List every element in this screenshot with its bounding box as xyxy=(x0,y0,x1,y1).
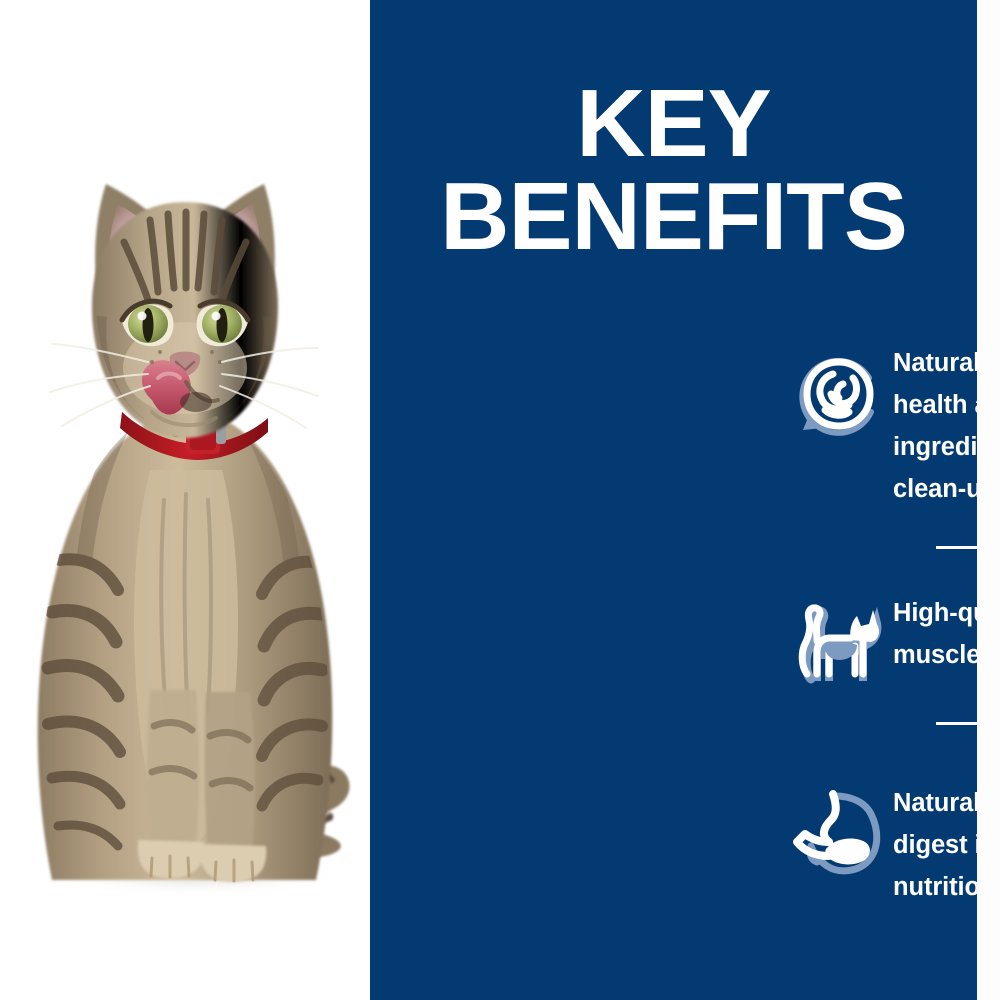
photo-panel xyxy=(0,0,370,1000)
benefit-item-protein: High-quality protein for lean muscles xyxy=(785,592,1000,690)
cat-silhouette-icon xyxy=(791,594,887,690)
benefit-icon-wrapper xyxy=(785,592,893,690)
fiber-digestion-icon xyxy=(791,344,887,448)
title-line-benefits: BENEFITS xyxy=(370,171,977,262)
cat-photo xyxy=(0,0,370,1000)
stomach-icon xyxy=(789,784,889,884)
right-margin xyxy=(977,0,1000,1000)
benefit-icon-wrapper xyxy=(785,782,893,884)
benefit-item-fiber: Natural fiber supports digestive health … xyxy=(785,342,1000,510)
page-title: KEY BENEFITS xyxy=(370,78,977,262)
title-line-key: KEY xyxy=(370,78,977,169)
benefit-icon-wrapper xyxy=(785,342,893,448)
benefit-item-digestible: Natural high-quality, easy-to-digest ing… xyxy=(785,782,1000,908)
benefits-panel: KEY BENEFITS Natural fiber su xyxy=(370,0,977,1000)
